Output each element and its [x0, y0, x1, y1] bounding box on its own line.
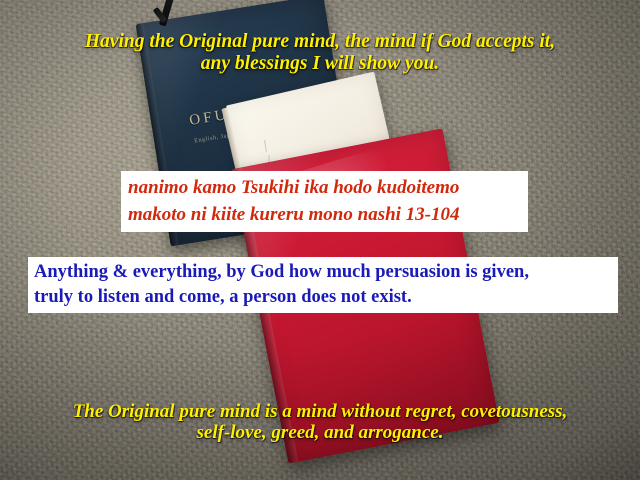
top-caption-text: Having the Original pure mind, the mind …	[0, 31, 640, 75]
english-translation-textbox: Anything & everything, by God how much p…	[28, 257, 618, 313]
romaji-verse-textbox: nanimo kamo Tsukihi ika hodo kudoitemo m…	[121, 171, 528, 232]
slide-canvas: OFUDESAKI English, Japanese, and Romaniz…	[0, 0, 640, 480]
bottom-caption-text: The Original pure mind is a mind without…	[0, 401, 640, 444]
